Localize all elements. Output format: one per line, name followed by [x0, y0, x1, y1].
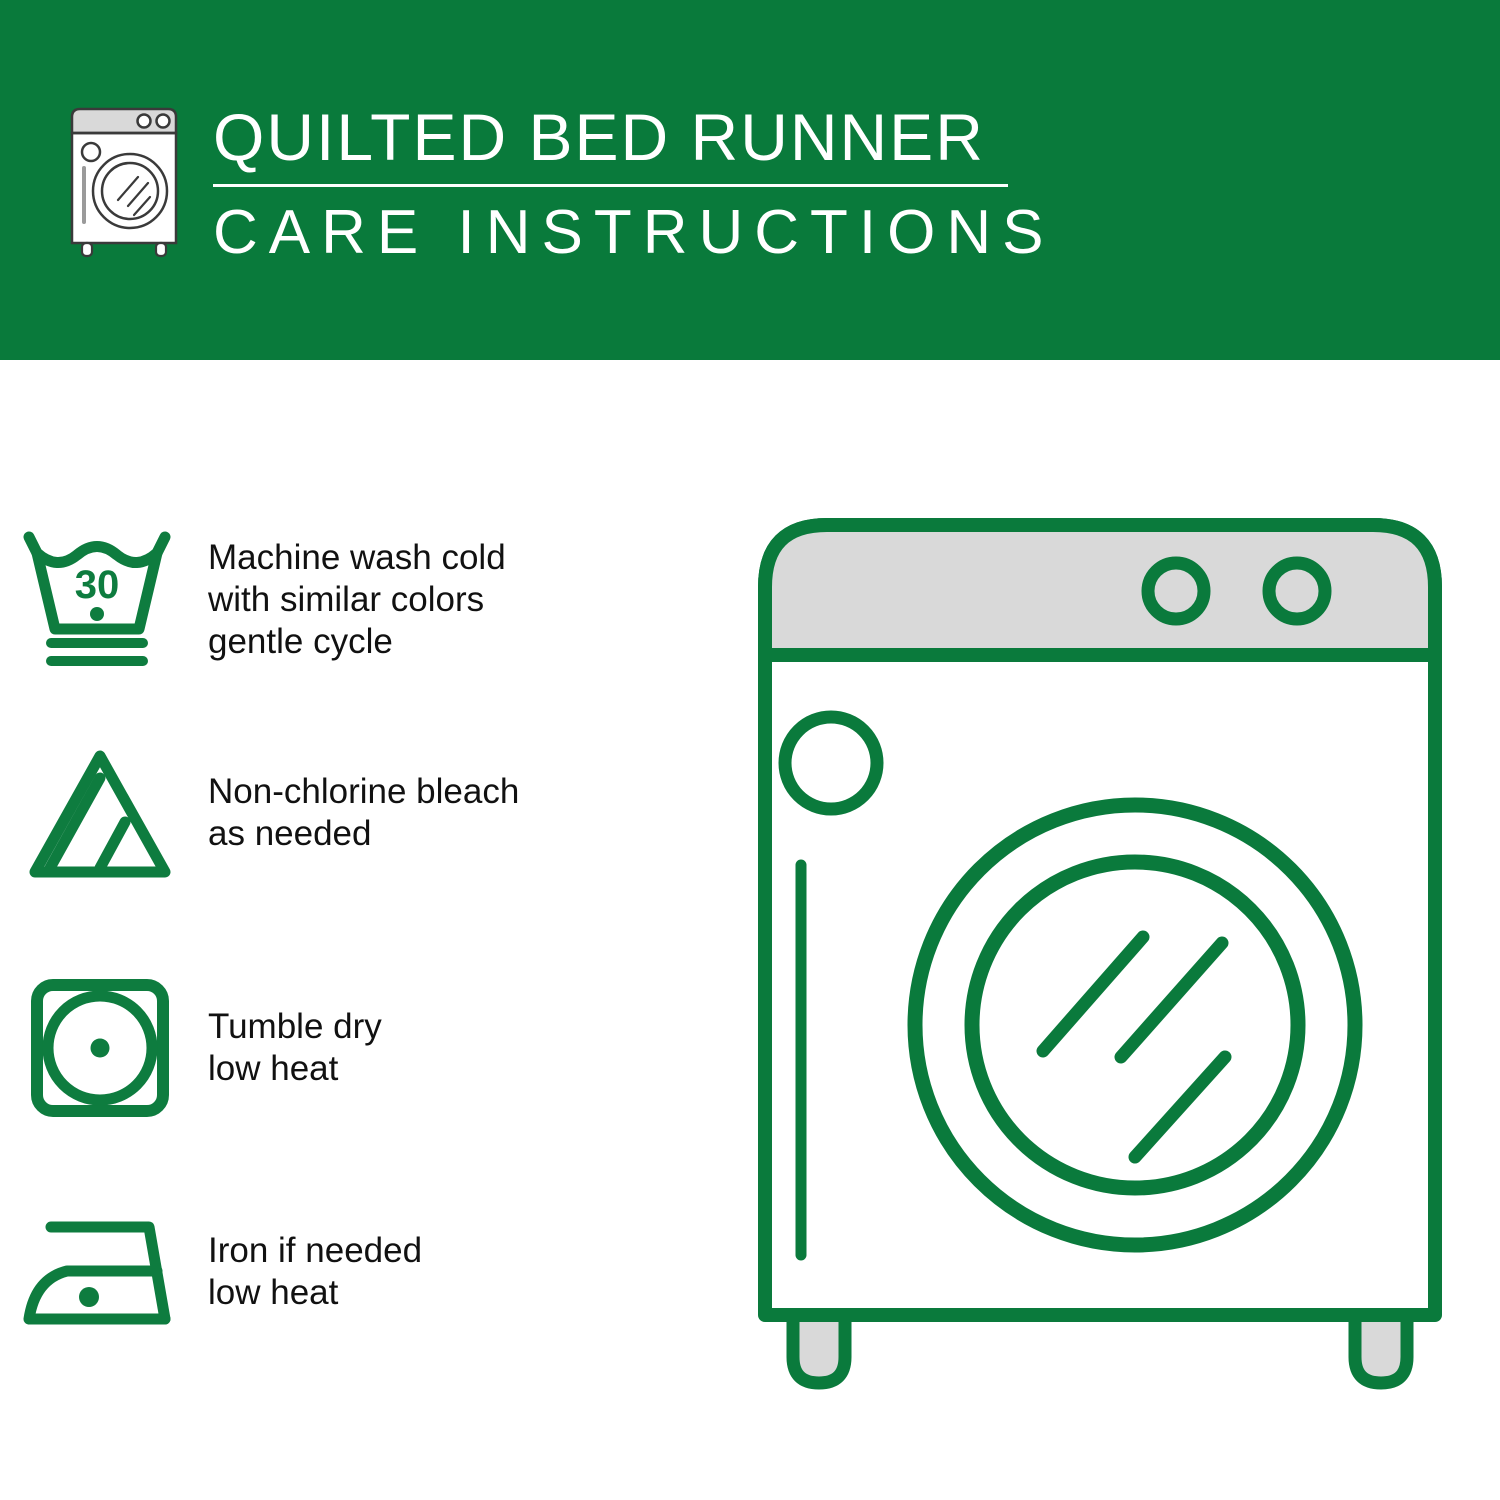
non-chlorine-bleach-triangle-icon	[0, 738, 200, 888]
care-symbol-list: 30 Machine wash cold with similar colors…	[0, 360, 700, 1500]
care-row-machine-wash: 30 Machine wash cold with similar colors…	[0, 510, 700, 690]
care-label-machine-wash: Machine wash cold with similar colors ge…	[200, 537, 506, 663]
care-row-tumble-dry: Tumble dry low heat	[0, 958, 700, 1138]
iron-low-heat-icon	[0, 1197, 200, 1347]
care-label-iron: Iron if needed low heat	[200, 1230, 422, 1314]
header-divider	[213, 184, 1008, 187]
care-row-bleach: Non-chlorine bleach as needed	[0, 728, 700, 898]
care-label-bleach: Non-chlorine bleach as needed	[200, 771, 519, 855]
header-text-block: QUILTED BED RUNNER CARE INSTRUCTIONS	[213, 98, 1023, 269]
care-row-iron: Iron if needed low heat	[0, 1182, 700, 1362]
wash-temperature-value: 30	[75, 563, 120, 607]
tumble-dry-low-icon	[0, 973, 200, 1123]
front-load-washing-machine-illustration	[735, 495, 1465, 1400]
header-banner: QUILTED BED RUNNER CARE INSTRUCTIONS	[0, 0, 1500, 360]
page-subtitle: CARE INSTRUCTIONS	[213, 197, 1023, 269]
care-label-tumble-dry: Tumble dry low heat	[200, 1006, 382, 1090]
wash-tub-30-icon: 30	[0, 525, 200, 675]
page-title: QUILTED BED RUNNER	[213, 98, 1023, 176]
washing-machine-icon	[62, 103, 186, 258]
